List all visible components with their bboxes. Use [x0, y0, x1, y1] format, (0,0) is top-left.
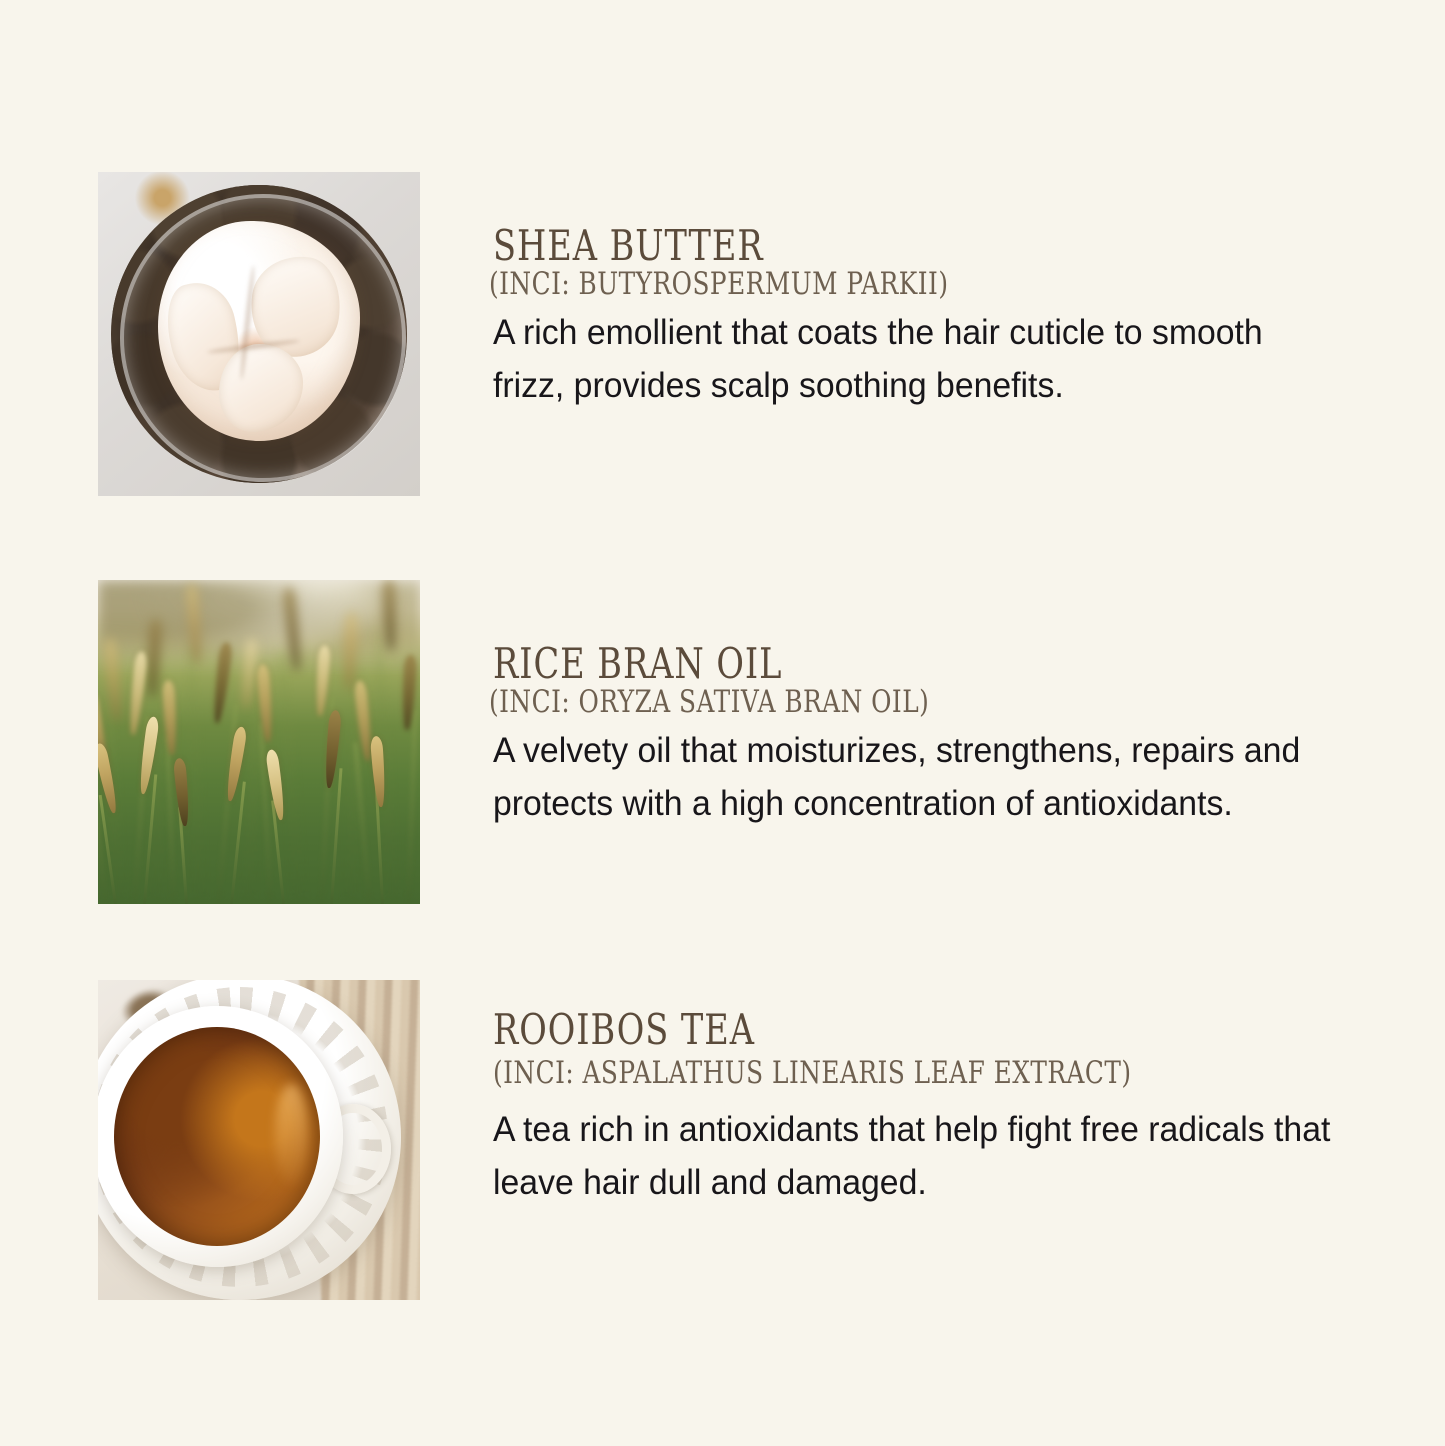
rice-field-image-inner [98, 580, 420, 904]
tea-cup [98, 1006, 343, 1267]
ingredient-benefits-panel: SHEA BUTTER(INCI: BUTYROSPERMUM PARKII) … [0, 0, 1445, 1446]
ingredient-inci: (INCI: ORYZA SATIVA BRAN OIL) [489, 686, 929, 718]
ingredient-row: SHEA BUTTER(INCI: BUTYROSPERMUM PARKII) … [0, 172, 1445, 496]
ingredient-text-column: ROOIBOS TEA (INCI: ASPALATHUS LINEARIS L… [493, 980, 1445, 1209]
ingredient-heading: RICE BRAN OIL(INCI: ORYZA SATIVA BRAN OI… [493, 642, 1385, 718]
ingredient-description: A tea rich in antioxidants that help fig… [493, 1103, 1354, 1209]
ingredient-name: SHEA BUTTER [493, 224, 764, 268]
ingredient-text-column: SHEA BUTTER(INCI: BUTYROSPERMUM PARKII) … [493, 172, 1445, 412]
ingredient-inci-line: (INCI: ASPALATHUS LINEARIS LEAF EXTRACT) [493, 1058, 1385, 1089]
ingredient-inci: (INCI: ASPALATHUS LINEARIS LEAF EXTRACT) [493, 1058, 1132, 1089]
ingredient-heading: SHEA BUTTER(INCI: BUTYROSPERMUM PARKII) [493, 224, 1385, 300]
ingredient-text-column: RICE BRAN OIL(INCI: ORYZA SATIVA BRAN OI… [493, 580, 1445, 830]
ingredient-description: A velvety oil that moisturizes, strength… [493, 724, 1342, 830]
tea-surface-sheen [275, 1084, 308, 1185]
ingredient-name: RICE BRAN OIL [493, 642, 782, 686]
rooibos-tea-photo [98, 980, 420, 1300]
shea-bowl [111, 185, 407, 483]
rice-field-photo [98, 580, 420, 904]
ingredient-inci: (INCI: BUTYROSPERMUM PARKII) [489, 268, 948, 300]
ingredient-row: RICE BRAN OIL(INCI: ORYZA SATIVA BRAN OI… [0, 580, 1445, 904]
field-stalks [98, 580, 420, 904]
rooibos-tea-image-inner [98, 980, 420, 1300]
shea-bowl-rim [120, 194, 406, 482]
ingredient-row: ROOIBOS TEA (INCI: ASPALATHUS LINEARIS L… [0, 980, 1445, 1300]
shea-butter-image-inner [98, 172, 420, 496]
ingredient-name: ROOIBOS TEA [493, 1008, 755, 1052]
tea-liquid [114, 1027, 320, 1246]
ingredient-heading: ROOIBOS TEA [493, 1008, 1385, 1052]
ingredient-description: A rich emollient that coats the hair cut… [493, 306, 1342, 412]
shea-butter-photo [98, 172, 420, 496]
